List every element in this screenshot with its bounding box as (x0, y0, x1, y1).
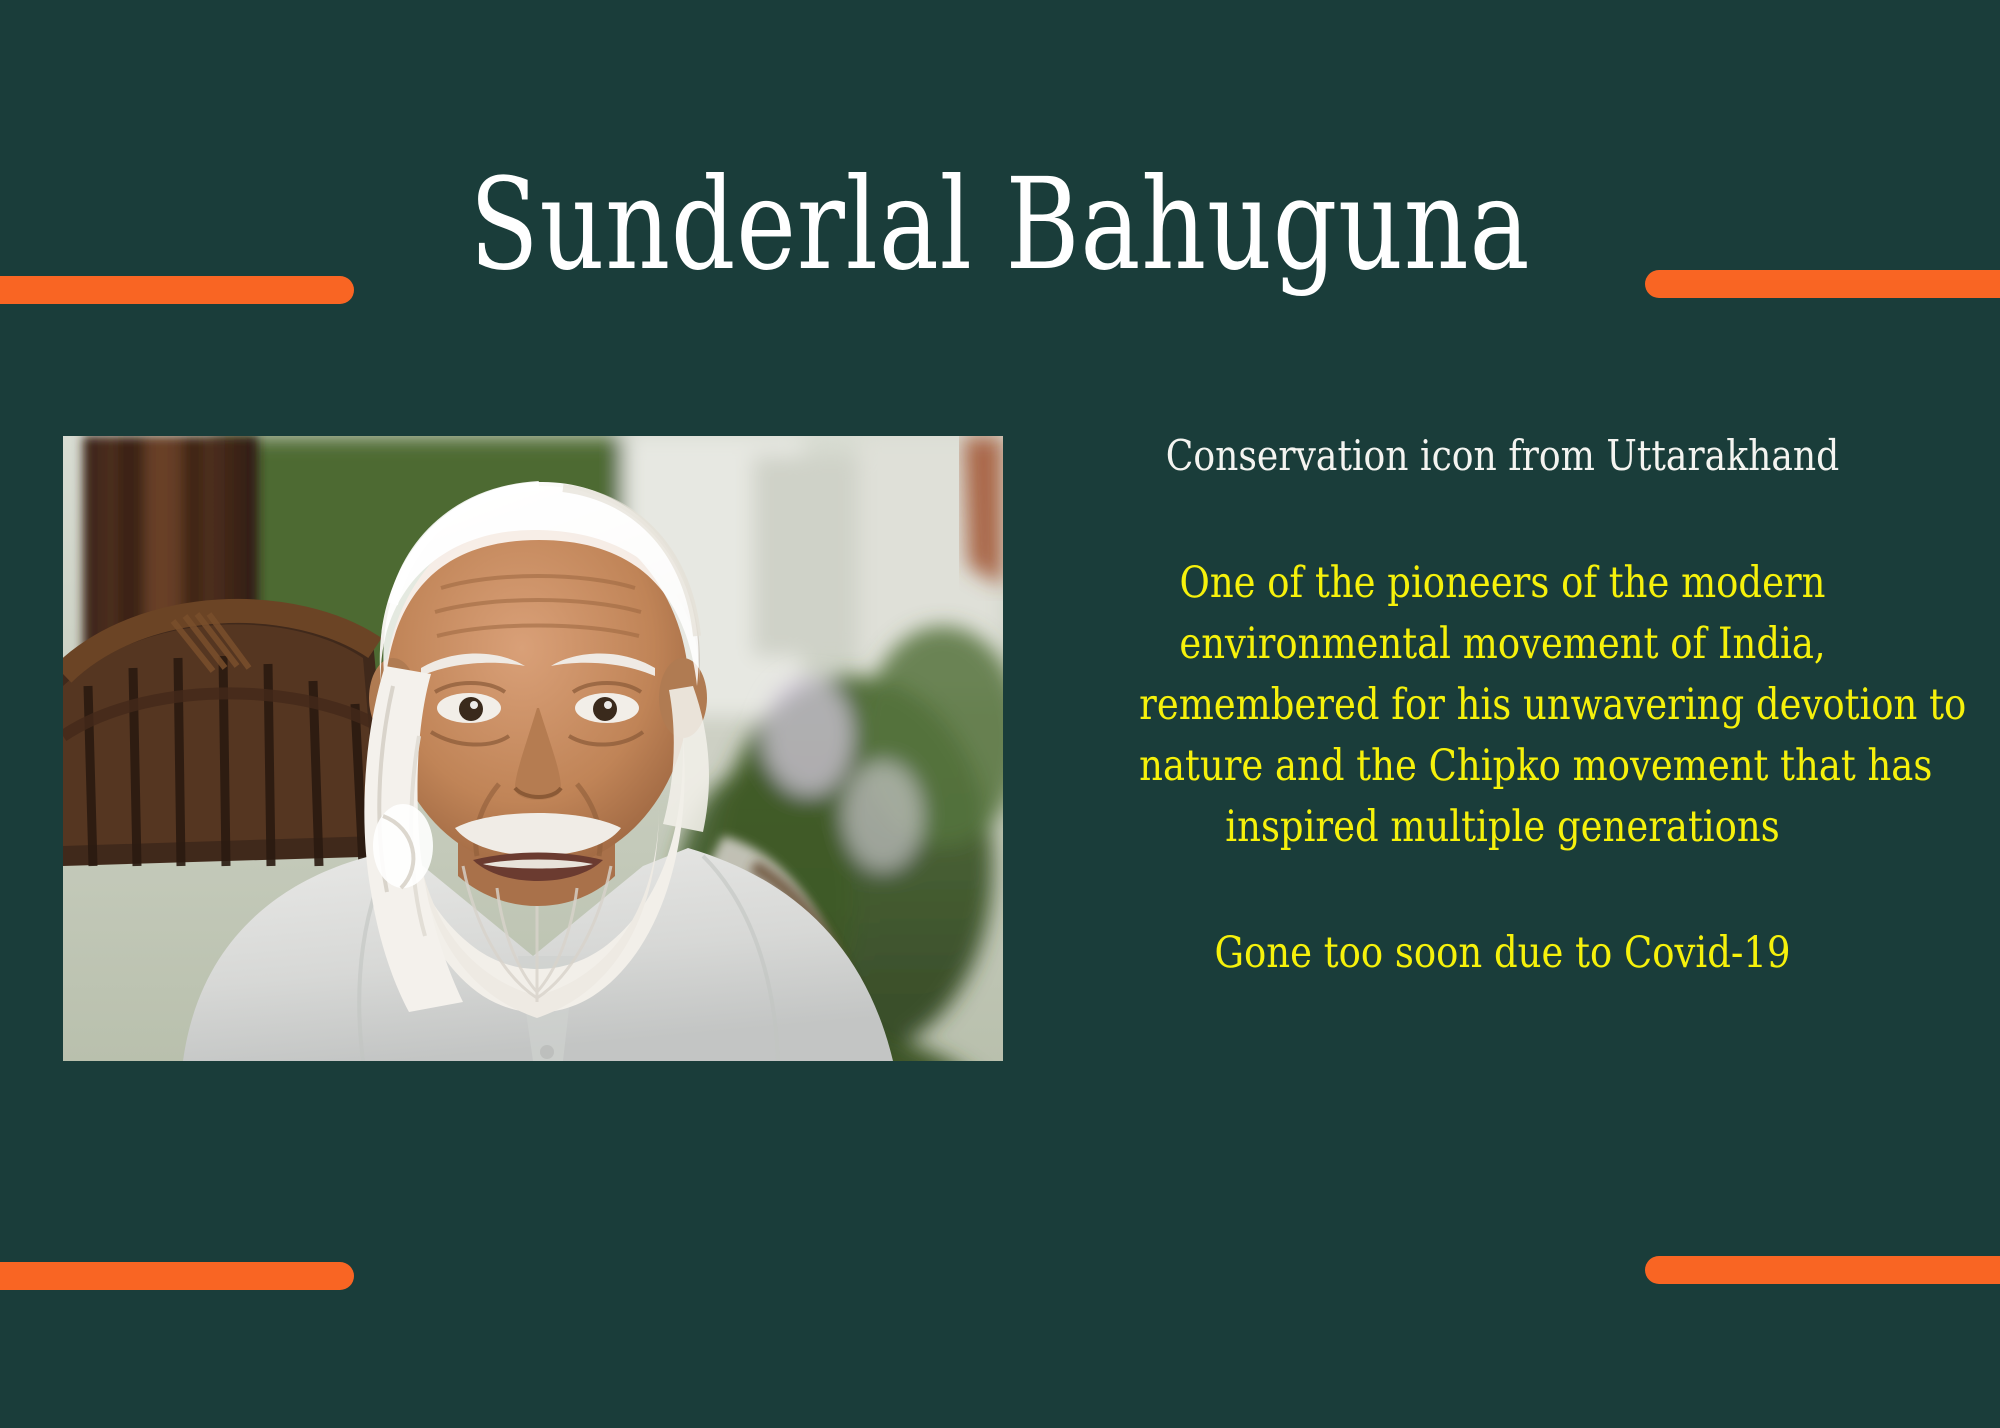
decor-pill-top-left (0, 276, 354, 304)
portrait-photo (63, 436, 1003, 1061)
description-line: nature and the Chipko movement that has (1139, 736, 1866, 797)
description-line: inspired multiple generations (1139, 797, 1866, 858)
decor-pill-bottom-left (0, 1262, 354, 1290)
closing-statement: Gone too soon due to Covid-19 (1139, 926, 1866, 982)
page-title: Sunderlal Bahuguna (200, 162, 1800, 288)
description-paragraph: One of the pioneers of the modern enviro… (1139, 553, 1866, 858)
description-line: One of the pioneers of the modern (1139, 553, 1866, 614)
decor-pill-top-right (1645, 270, 2000, 298)
description-line: remembered for his unwavering devotion t… (1139, 675, 1866, 736)
subtitle: Conservation icon from Uttarakhand (1139, 430, 1866, 483)
description-line: environmental movement of India, (1139, 614, 1866, 675)
info-text-column: Conservation icon from Uttarakhand One o… (1080, 430, 1925, 982)
slide-canvas: Sunderlal Bahuguna (0, 0, 2000, 1428)
decor-pill-bottom-right (1645, 1256, 2000, 1284)
